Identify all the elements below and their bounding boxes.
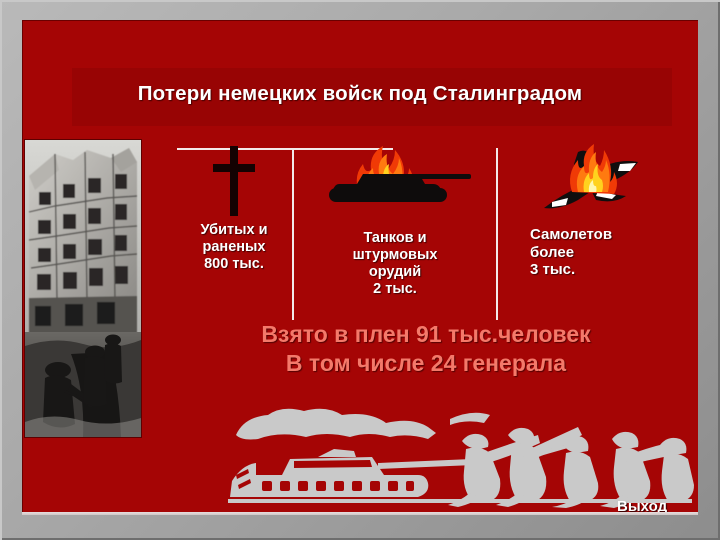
- prisoners-line-1: Взято в плен 91 тыс.человек: [154, 320, 698, 349]
- cross-icon: [177, 144, 291, 216]
- column-divider-2: [496, 148, 498, 320]
- burning-plane-icon: [502, 144, 678, 216]
- slide-frame: Потери немецких войск под Сталинградом: [0, 0, 720, 540]
- burning-tank-icon: [296, 144, 494, 216]
- column-divider-1: [292, 148, 294, 320]
- prisoners-block: Взято в плен 91 тыс.человек В том числе …: [154, 320, 698, 379]
- prisoners-line-2: В том числе 24 генерала: [154, 349, 698, 378]
- stalingrad-ruins-photo: [25, 140, 141, 437]
- tank-and-soldiers-lineart: [222, 405, 698, 509]
- stat-column-tanks: Танков и штурмовых орудий 2 тыс.: [296, 144, 494, 298]
- page-title: Потери немецких войск под Сталинградом: [22, 82, 698, 106]
- stat-caption-tanks: Танков и штурмовых орудий 2 тыс.: [296, 230, 494, 298]
- stat-column-killed-wounded: Убитых и раненых 800 тыс.: [177, 144, 291, 273]
- stat-caption-planes: Самолетов более 3 тыс.: [502, 226, 678, 279]
- stage-bottom-rule: [22, 512, 698, 515]
- stat-column-planes: Самолетов более 3 тыс.: [502, 144, 678, 279]
- slide-stage: Потери немецких войск под Сталинградом: [22, 20, 698, 515]
- stat-caption-killed-wounded: Убитых и раненых 800 тыс.: [177, 222, 291, 273]
